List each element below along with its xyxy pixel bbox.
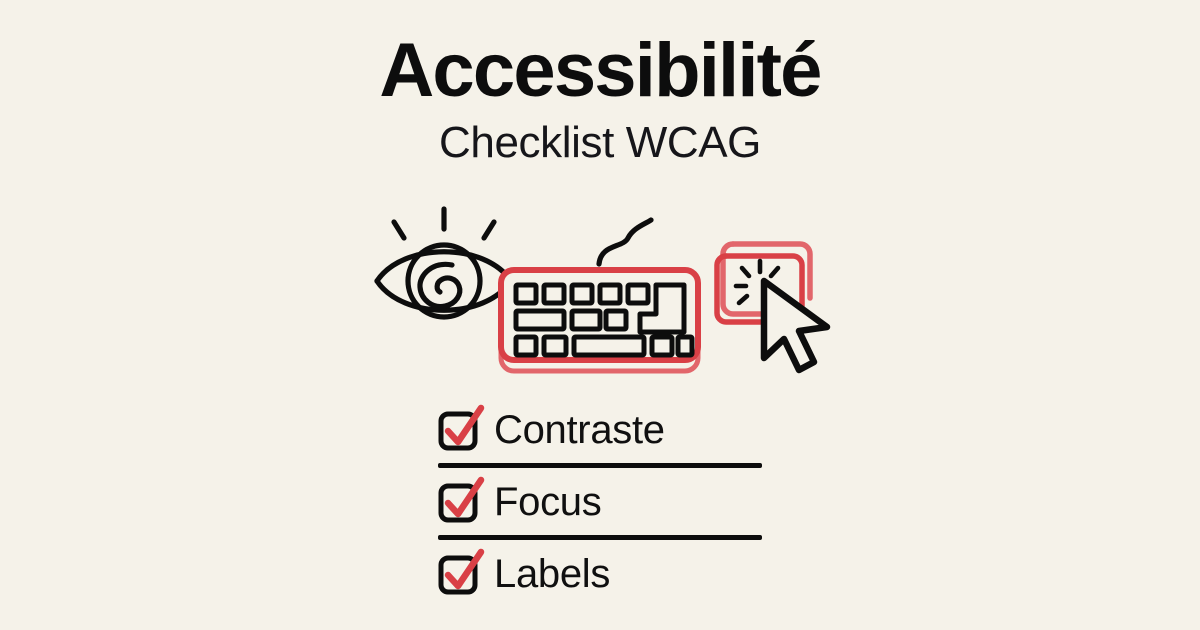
eye-icon — [377, 209, 511, 317]
list-item[interactable]: Contraste — [438, 398, 768, 462]
checkbox-checked-icon[interactable] — [438, 554, 478, 594]
keyboard-icon — [501, 270, 698, 371]
keyboard-cable-icon — [599, 220, 651, 264]
list-item-label: Labels — [494, 554, 610, 594]
cursor-focus-ring-icon — [717, 244, 827, 370]
list-item[interactable]: Labels — [438, 542, 768, 606]
wcag-checklist: Contraste Focus Labels — [438, 398, 768, 606]
page-subtitle: Checklist WCAG — [0, 113, 1200, 167]
page-title: Accessibilité — [0, 0, 1200, 113]
accessibility-illustration — [340, 182, 860, 382]
poster-card: Accessibilité Checklist WCAG — [0, 0, 1200, 630]
list-item[interactable]: Focus — [438, 470, 768, 534]
list-divider — [438, 463, 762, 468]
checkbox-checked-icon[interactable] — [438, 482, 478, 522]
list-divider — [438, 535, 762, 540]
header: Accessibilité Checklist WCAG — [0, 0, 1200, 168]
list-item-label: Focus — [494, 482, 601, 522]
list-item-label: Contraste — [494, 410, 665, 450]
checkbox-checked-icon[interactable] — [438, 410, 478, 450]
